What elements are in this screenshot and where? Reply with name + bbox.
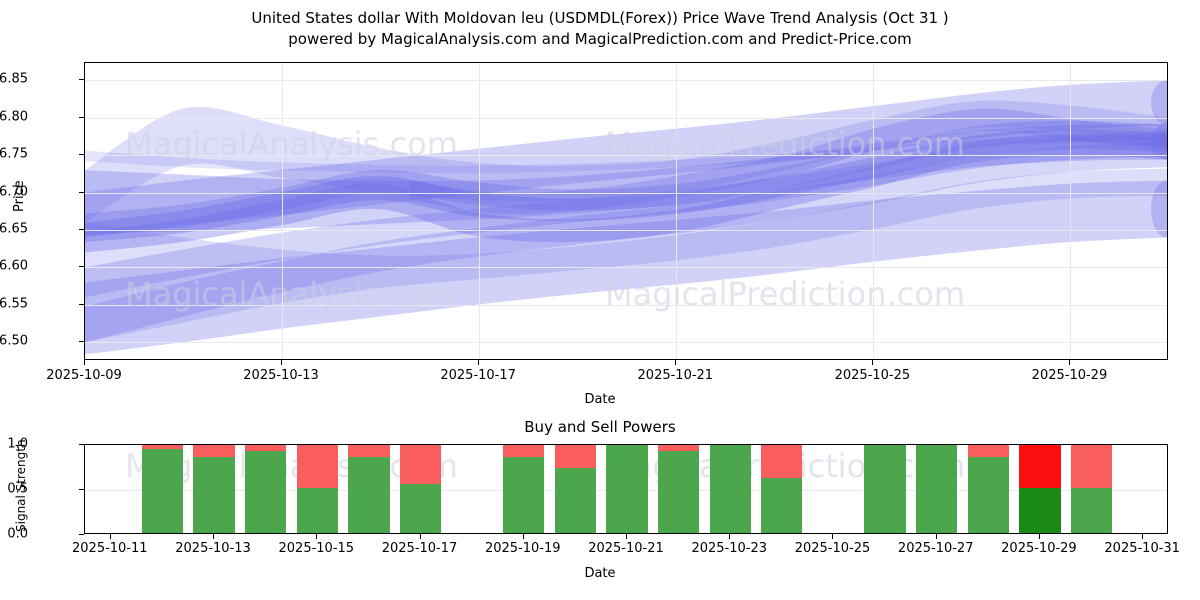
- signal-bar[interactable]: [968, 445, 1009, 533]
- signal-chart-title: Buy and Sell Powers: [0, 418, 1200, 436]
- signal-bar[interactable]: [761, 445, 802, 533]
- price-xtick-label: 2025-10-17: [440, 368, 516, 383]
- buy-power-segment: [606, 444, 647, 533]
- price-xtick-mark: [675, 360, 676, 365]
- price-gridline-v: [479, 63, 480, 359]
- signal-bar[interactable]: [864, 445, 905, 533]
- signal-xtick-mark: [1142, 534, 1143, 539]
- title-line-1: United States dollar With Moldovan leu (…: [0, 8, 1200, 29]
- signal-xtick-mark: [936, 534, 937, 539]
- signal-xtick-label: 2025-10-27: [898, 541, 974, 556]
- buy-power-segment: [297, 488, 338, 533]
- buy-power-segment: [193, 457, 234, 534]
- price-wave-bands: [85, 63, 1168, 360]
- signal-bar[interactable]: [193, 445, 234, 533]
- price-ytick-label: 16.65: [0, 221, 28, 236]
- buy-power-segment: [245, 451, 286, 533]
- sell-power-segment: [761, 445, 802, 480]
- signal-xtick-label: 2025-10-31: [1104, 541, 1180, 556]
- signal-ytick-mark: [79, 534, 84, 535]
- price-gridline-h: [85, 118, 1167, 119]
- price-gridline-v: [873, 63, 874, 359]
- buy-power-segment: [710, 444, 751, 533]
- signal-bar[interactable]: [555, 445, 596, 533]
- price-gridline-h: [85, 230, 1167, 231]
- signal-xtick-label: 2025-10-23: [691, 541, 767, 556]
- price-plot-area: MagicalAnalysis.comMagicalPrediction.com…: [84, 62, 1168, 360]
- price-ytick-label: 16.75: [0, 147, 28, 162]
- price-gridline-v: [676, 63, 677, 359]
- chart-page: United States dollar With Moldovan leu (…: [0, 0, 1200, 600]
- price-xtick-label: 2025-10-29: [1032, 368, 1108, 383]
- price-xtick-mark: [872, 360, 873, 365]
- signal-xtick-mark: [729, 534, 730, 539]
- signal-xtick-mark: [213, 534, 214, 539]
- signal-bar[interactable]: [297, 445, 338, 533]
- signal-xtick-mark: [523, 534, 524, 539]
- signal-bar[interactable]: [142, 445, 183, 533]
- signal-xtick-label: 2025-10-13: [175, 541, 251, 556]
- price-ylabel: Price: [12, 180, 27, 212]
- buy-power-segment: [864, 444, 905, 533]
- signal-xlabel: Date: [0, 566, 1200, 581]
- buy-power-segment: [1019, 488, 1060, 533]
- signal-ylabel: Signal Strength: [14, 439, 28, 532]
- signal-xtick-label: 2025-10-11: [72, 541, 148, 556]
- signal-bar[interactable]: [606, 445, 647, 533]
- signal-bar[interactable]: [1071, 445, 1112, 533]
- signal-xtick-label: 2025-10-25: [795, 541, 871, 556]
- signal-bar[interactable]: [916, 445, 957, 533]
- price-gridline-h: [85, 342, 1167, 343]
- price-xtick-label: 2025-10-25: [835, 368, 911, 383]
- signal-plot-area: MagicalAnalysis.comMagicalPrediction.com: [84, 444, 1168, 534]
- signal-xtick-mark: [316, 534, 317, 539]
- buy-power-segment: [555, 468, 596, 533]
- price-ytick-label: 16.50: [0, 334, 28, 349]
- buy-power-segment: [658, 451, 699, 533]
- price-ytick-label: 16.60: [0, 259, 28, 274]
- price-ytick-label: 16.55: [0, 296, 28, 311]
- signal-xtick-mark: [1039, 534, 1040, 539]
- buy-power-segment: [1071, 488, 1112, 533]
- sell-power-segment: [555, 445, 596, 470]
- signal-xtick-label: 2025-10-21: [588, 541, 664, 556]
- price-xtick-label: 2025-10-13: [243, 368, 319, 383]
- buy-power-segment: [968, 457, 1009, 534]
- price-gridline-h: [85, 267, 1167, 268]
- signal-xtick-label: 2025-10-19: [485, 541, 561, 556]
- signal-bar[interactable]: [245, 445, 286, 533]
- price-gridline-v: [1070, 63, 1071, 359]
- title-line-2: powered by MagicalAnalysis.com and Magic…: [0, 29, 1200, 50]
- sell-power-segment: [1071, 445, 1112, 490]
- price-ytick-label: 16.85: [0, 72, 28, 87]
- signal-xtick-label: 2025-10-17: [382, 541, 458, 556]
- buy-power-segment: [503, 457, 544, 534]
- price-xtick-mark: [84, 360, 85, 365]
- signal-bar[interactable]: [400, 445, 441, 533]
- buy-power-segment: [400, 484, 441, 534]
- sell-power-segment: [400, 445, 441, 486]
- price-ytick-label: 16.80: [0, 109, 28, 124]
- buy-power-segment: [348, 457, 389, 534]
- buy-power-segment: [916, 444, 957, 533]
- price-gridline-v: [282, 63, 283, 359]
- buy-power-segment: [142, 449, 183, 533]
- signal-bar[interactable]: [348, 445, 389, 533]
- price-gridline-h: [85, 155, 1167, 156]
- sell-power-segment: [1019, 445, 1060, 490]
- price-xtick-mark: [281, 360, 282, 365]
- signal-bar[interactable]: [1019, 445, 1060, 533]
- price-gridline-h: [85, 305, 1167, 306]
- price-gridline-h: [85, 80, 1167, 81]
- signal-bar[interactable]: [710, 445, 751, 533]
- signal-xtick-mark: [420, 534, 421, 539]
- signal-xtick-mark: [832, 534, 833, 539]
- page-title: United States dollar With Moldovan leu (…: [0, 8, 1200, 50]
- signal-xtick-label: 2025-10-15: [279, 541, 355, 556]
- buy-power-segment: [761, 478, 802, 533]
- price-xtick-label: 2025-10-09: [46, 368, 122, 383]
- signal-xtick-mark: [110, 534, 111, 539]
- signal-xtick-mark: [626, 534, 627, 539]
- sell-power-segment: [297, 445, 338, 490]
- signal-xtick-label: 2025-10-29: [1001, 541, 1077, 556]
- price-xtick-mark: [1069, 360, 1070, 365]
- price-xtick-mark: [478, 360, 479, 365]
- signal-bar[interactable]: [658, 445, 699, 533]
- price-xtick-label: 2025-10-21: [638, 368, 714, 383]
- price-xlabel: Date: [0, 392, 1200, 407]
- signal-bar[interactable]: [503, 445, 544, 533]
- price-gridline-h: [85, 193, 1167, 194]
